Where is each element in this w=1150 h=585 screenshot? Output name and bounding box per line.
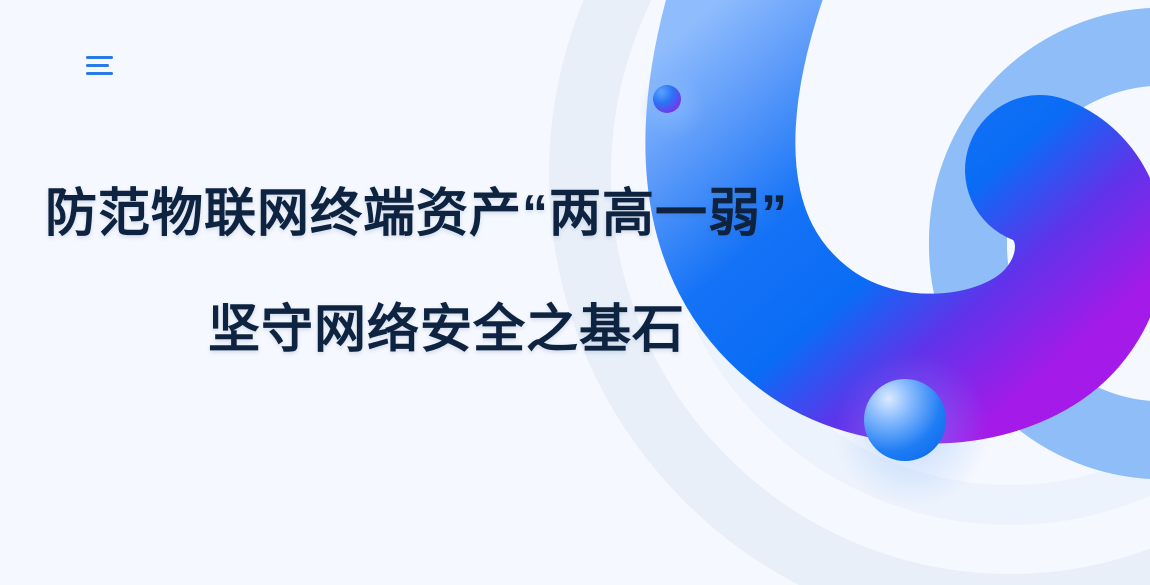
page-header xyxy=(0,0,1150,130)
page-title: 防范物联网终端资产“两高一弱” 坚守网络安全之基石 xyxy=(0,186,900,358)
title-line-primary: 防范物联网终端资产“两高一弱” xyxy=(45,186,900,242)
hamburger-menu-icon[interactable] xyxy=(80,48,120,84)
title-line-secondary: 坚守网络安全之基石 xyxy=(208,302,900,358)
menu-bar-bottom xyxy=(86,72,113,75)
menu-bar-top xyxy=(86,56,113,59)
slide-canvas: 防范物联网终端资产“两高一弱” 坚守网络安全之基石 xyxy=(0,0,1150,585)
menu-bar-middle xyxy=(86,64,109,67)
large-blue-sphere xyxy=(834,352,990,508)
